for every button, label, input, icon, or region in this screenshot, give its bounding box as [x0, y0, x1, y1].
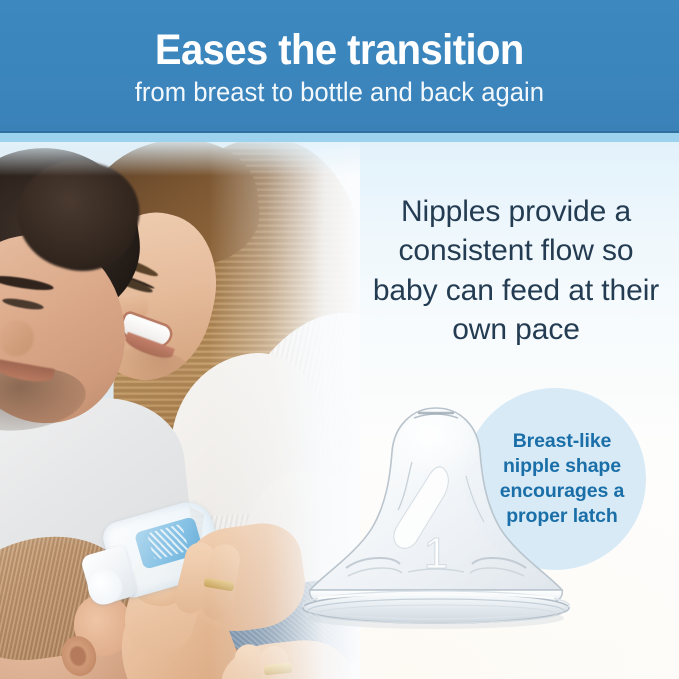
product-nipple-image: 1	[288, 400, 578, 632]
header-banner: Eases the transition from breast to bott…	[0, 0, 679, 131]
headline: Eases the transition	[155, 29, 524, 72]
product-infographic: Smiling man and woman on a bed bottle-fe…	[0, 0, 679, 679]
subheadline: from breast to bottle and back again	[135, 79, 544, 106]
flow-rate-marking: 1	[424, 529, 448, 578]
header-accent-band	[0, 133, 679, 142]
body-copy-text: Nipples provide a consistent flow so bab…	[370, 192, 662, 349]
